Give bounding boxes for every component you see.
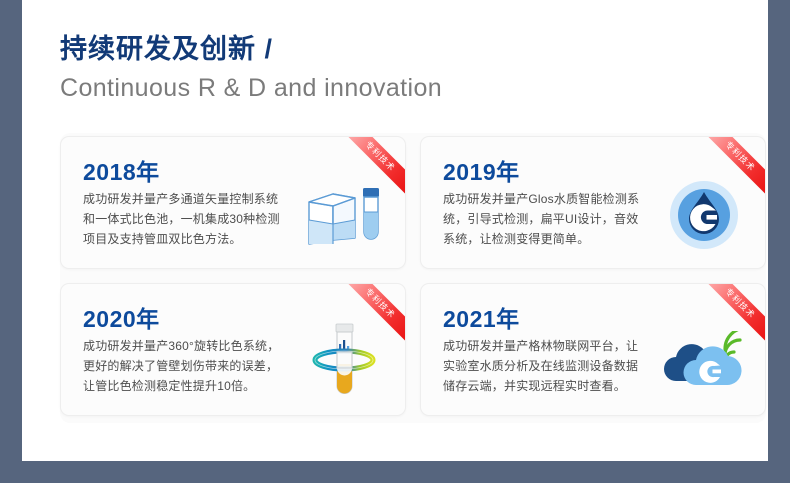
milestone-card-2021[interactable]: 2021年 成功研发并量产格林物联网平台，让实验室水质分析及在线监测设备数据储存…	[420, 283, 766, 416]
cloud-iot-wifi-icon	[661, 319, 747, 405]
card-description: 成功研发并量产360°旋转比色系统，更好的解决了管壁划伤带来的误差，让管比色检测…	[83, 336, 288, 396]
cuvette-and-test-tube-icon	[301, 172, 387, 258]
card-description: 成功研发并量产Glos水质智能检测系统，引导式检测，扁平UI设计，音效系统，让检…	[443, 189, 648, 249]
card-description: 成功研发并量产格林物联网平台，让实验室水质分析及在线监测设备数据储存云端，并实现…	[443, 336, 648, 396]
card-year-label: 2020年	[83, 300, 160, 334]
page-root: 持续研发及创新 / Continuous R & D and innovatio…	[0, 0, 790, 483]
milestone-card-grid: 2018年 成功研发并量产多通道矢量控制系统和一体式比色池，一机集成30种检测项…	[60, 136, 766, 416]
page-title-cn: 持续研发及创新 /	[60, 30, 442, 68]
milestone-card-2019[interactable]: 2019年 成功研发并量产Glos水质智能检测系统，引导式检测，扁平UI设计，音…	[420, 136, 766, 269]
milestone-card-2020[interactable]: 2020年 成功研发并量产360°旋转比色系统，更好的解决了管壁划伤带来的误差，…	[60, 283, 406, 416]
glos-droplet-logo-icon	[661, 172, 747, 258]
card-year-label: 2019年	[443, 153, 520, 187]
card-description: 成功研发并量产多通道矢量控制系统和一体式比色池，一机集成30种检测项目及支持管皿…	[83, 189, 288, 249]
card-year-label: 2018年	[83, 153, 160, 187]
section-header: 持续研发及创新 / Continuous R & D and innovatio…	[60, 30, 442, 108]
milestone-card-2018[interactable]: 2018年 成功研发并量产多通道矢量控制系统和一体式比色池，一机集成30种检测项…	[60, 136, 406, 269]
card-year-label: 2021年	[443, 300, 520, 334]
rotating-test-tube-icon	[301, 319, 387, 405]
page-canvas: 持续研发及创新 / Continuous R & D and innovatio…	[22, 0, 768, 461]
page-title-en: Continuous R & D and innovation	[60, 68, 442, 108]
